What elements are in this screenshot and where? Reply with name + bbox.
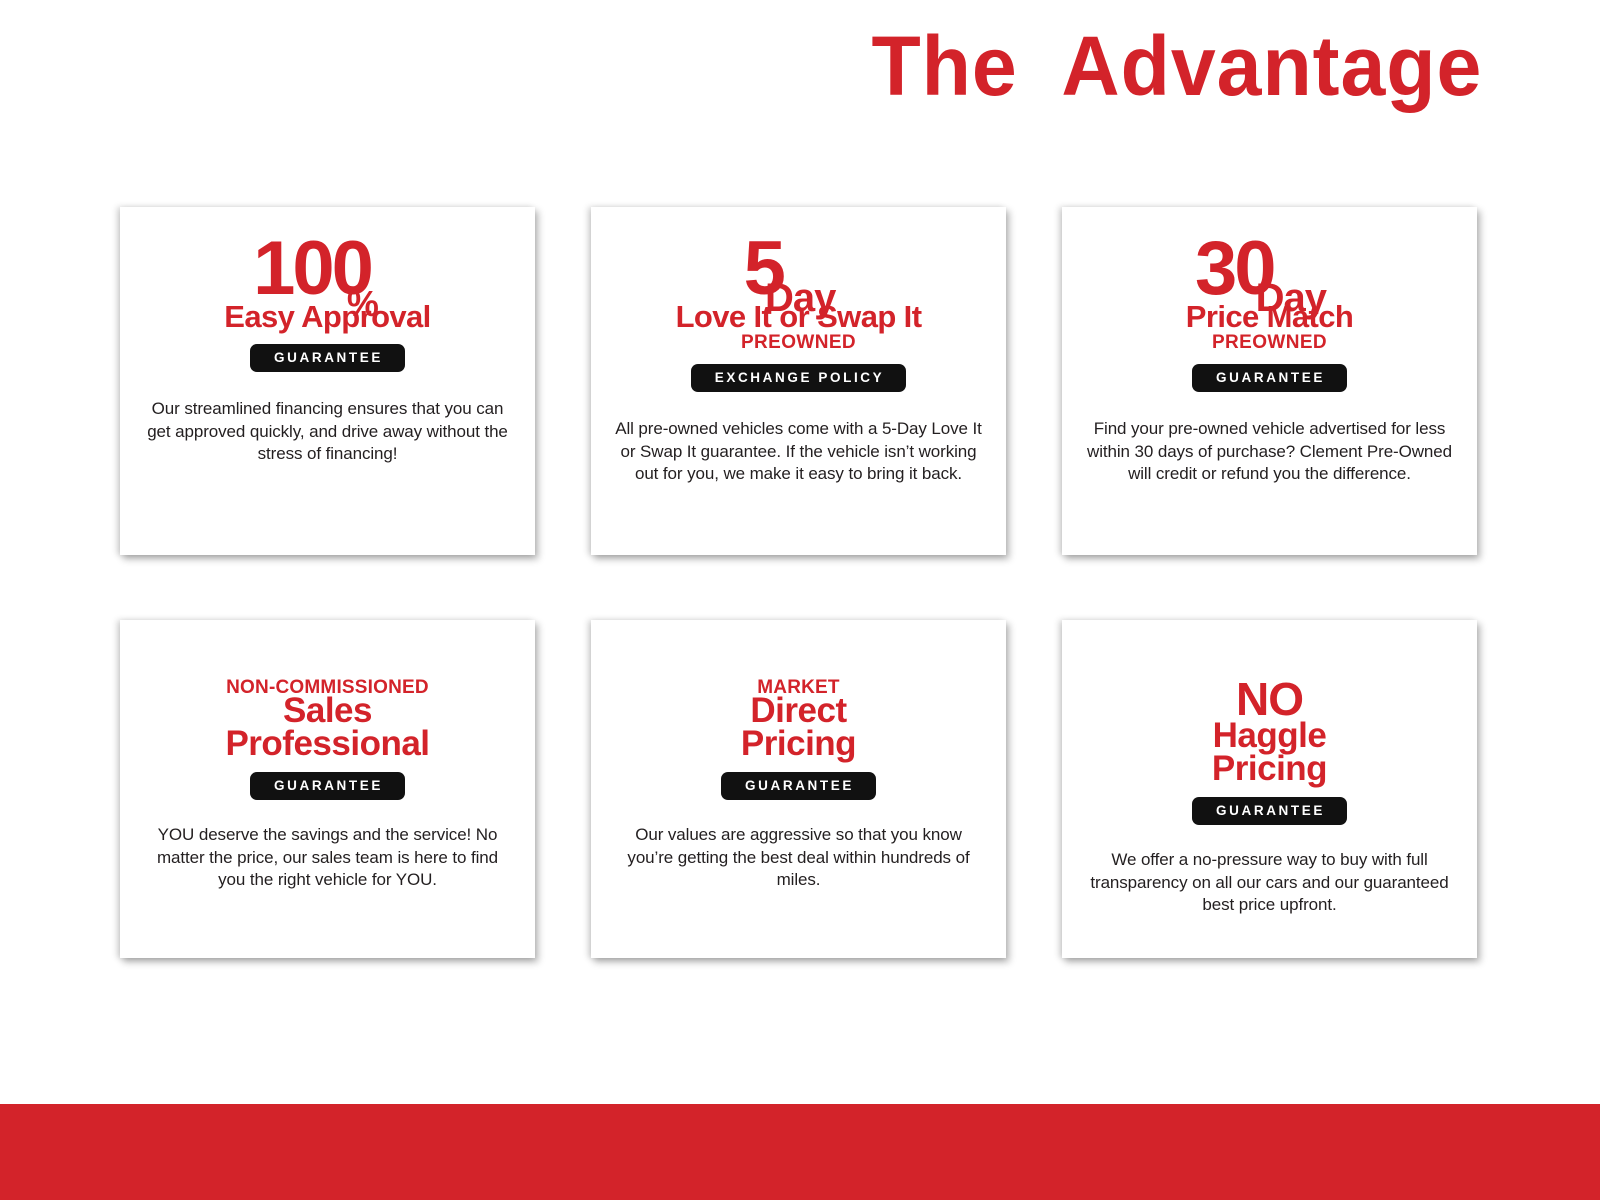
big-number-suffix: Day [765, 279, 835, 317]
big-number-group: 100% [253, 233, 402, 305]
footer-accent-bar [0, 1104, 1600, 1200]
headline-market-direct-pricing: MARKET Direct Pricing [613, 678, 984, 760]
headline-stack-line-2: Pricing [613, 728, 984, 761]
headline-easy-approval: 100% Easy Approval [142, 233, 513, 332]
headline-stack-line-1: Sales [142, 695, 513, 728]
headline-stack-line-2: Professional [142, 728, 513, 761]
card-sales-professional[interactable]: NON-COMMISSIONED Sales Professional GUAR… [120, 620, 535, 958]
big-number-group: 30Day [1195, 233, 1344, 305]
big-number-group: 5Day [744, 233, 854, 305]
card-easy-approval[interactable]: 100% Easy Approval GUARANTEE Our streaml… [120, 207, 535, 555]
status-badge: GUARANTEE [721, 772, 876, 800]
status-badge: GUARANTEE [1192, 364, 1347, 392]
card-body-text: Our values are aggressive so that you kn… [613, 824, 984, 892]
card-price-match[interactable]: 30Day Price Match PREOWNED GUARANTEE Fin… [1062, 207, 1477, 555]
card-no-haggle-pricing[interactable]: NO Haggle Pricing GUARANTEE We offer a n… [1062, 620, 1477, 958]
headline-sub: PREOWNED [1084, 333, 1455, 352]
advantage-cards-grid: 100% Easy Approval GUARANTEE Our streaml… [120, 207, 1477, 958]
card-body-text: Find your pre-owned vehicle advertised f… [1084, 418, 1455, 486]
headline-sub: PREOWNED [613, 333, 984, 352]
headline-no-haggle-pricing: NO Haggle Pricing [1084, 678, 1455, 785]
big-number-suffix: Day [1256, 279, 1326, 317]
status-badge: GUARANTEE [250, 344, 405, 372]
status-badge: EXCHANGE POLICY [691, 364, 907, 392]
headline-sales-professional: NON-COMMISSIONED Sales Professional [142, 678, 513, 760]
headline-stack-line-1: Haggle [1084, 720, 1455, 753]
status-badge: GUARANTEE [1192, 797, 1347, 825]
headline-price-match: 30Day Price Match PREOWNED [1084, 233, 1455, 352]
card-body-text: Our streamlined financing ensures that y… [142, 398, 513, 466]
card-body-text: All pre-owned vehicles come with a 5-Day… [613, 418, 984, 486]
headline-giant: NO [1084, 678, 1455, 720]
card-body-text: We offer a no-pressure way to buy with f… [1084, 849, 1455, 917]
big-number-suffix: % [347, 287, 378, 321]
card-market-direct-pricing[interactable]: MARKET Direct Pricing GUARANTEE Our valu… [591, 620, 1006, 958]
card-love-it-or-swap-it[interactable]: 5Day Love It or Swap It PREOWNED EXCHANG… [591, 207, 1006, 555]
headline-love-it-or-swap-it: 5Day Love It or Swap It PREOWNED [613, 233, 984, 352]
card-body-text: YOU deserve the savings and the service!… [142, 824, 513, 892]
page-title: The Advantage [871, 24, 1482, 108]
headline-stack-line-1: Direct [613, 695, 984, 728]
status-badge: GUARANTEE [250, 772, 405, 800]
headline-stack-line-2: Pricing [1084, 753, 1455, 786]
